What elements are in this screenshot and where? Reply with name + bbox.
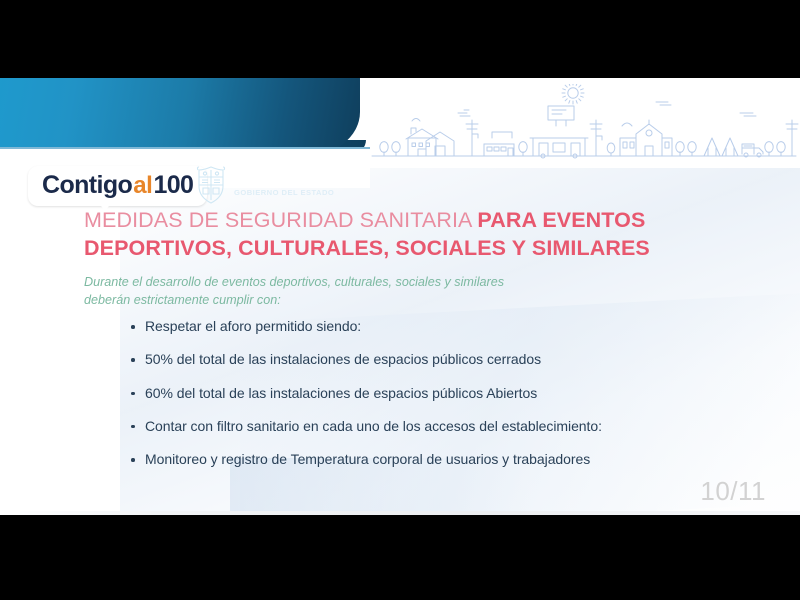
list-item: Respetar el aforo permitido siendo: [130,318,750,335]
slide-viewer: Contigo al 100 AGUASCALIENTES GOBIE [0,0,800,600]
list-item: 50% del total de las instalaciones de es… [130,351,750,368]
letterbox-bottom [0,515,800,600]
letterbox-top [0,0,800,78]
subtitle: Durante el desarrollo de eventos deporti… [84,274,604,310]
list-item: Monitoreo y registro de Temperatura corp… [130,451,750,468]
logo-word-al: al [133,172,152,200]
subtitle-line-1: Durante el desarrollo de eventos deporti… [84,274,604,292]
list-item: Contar con filtro sanitario en cada uno … [130,418,750,435]
presentation-slide: Contigo al 100 AGUASCALIENTES GOBIE [0,78,800,515]
title-light-segment: MEDIDAS DE SEGURIDAD SANITARIA [84,208,477,232]
aguascalientes-coat-of-arms-icon [196,166,226,204]
page-title: MEDIDAS DE SEGURIDAD SANITARIA PARA EVEN… [84,206,704,263]
cityscape-illustration [368,84,800,162]
logo-word-contigo: Contigo [42,171,132,200]
title-bold-segment-2: DEPORTIVOS, CULTURALES, SOCIALES Y SIMIL… [84,236,650,260]
header-band [0,78,360,158]
aguascalientes-government-branding: AGUASCALIENTES GOBIERNO DEL ESTADO [196,166,363,204]
title-line-2: DEPORTIVOS, CULTURALES, SOCIALES Y SIMIL… [84,234,704,262]
title-bold-segment-1: PARA EVENTOS [477,208,645,232]
contigo-al-100-logo: Contigo al 100 [28,166,207,206]
logo-word-100: 100 [153,171,193,200]
list-item: 60% del total de las instalaciones de es… [130,385,750,402]
measures-list: Respetar el aforo permitido siendo: 50% … [130,318,750,484]
state-subtitle: GOBIERNO DEL ESTADO [234,189,363,197]
state-name: AGUASCALIENTES [234,173,363,187]
page-counter: 10/11 [700,476,766,507]
title-line-1: MEDIDAS DE SEGURIDAD SANITARIA PARA EVEN… [84,206,704,234]
subtitle-line-2: deberán estrictamente cumplir con: [84,292,604,310]
government-wordmark: AGUASCALIENTES GOBIERNO DEL ESTADO [234,173,363,196]
